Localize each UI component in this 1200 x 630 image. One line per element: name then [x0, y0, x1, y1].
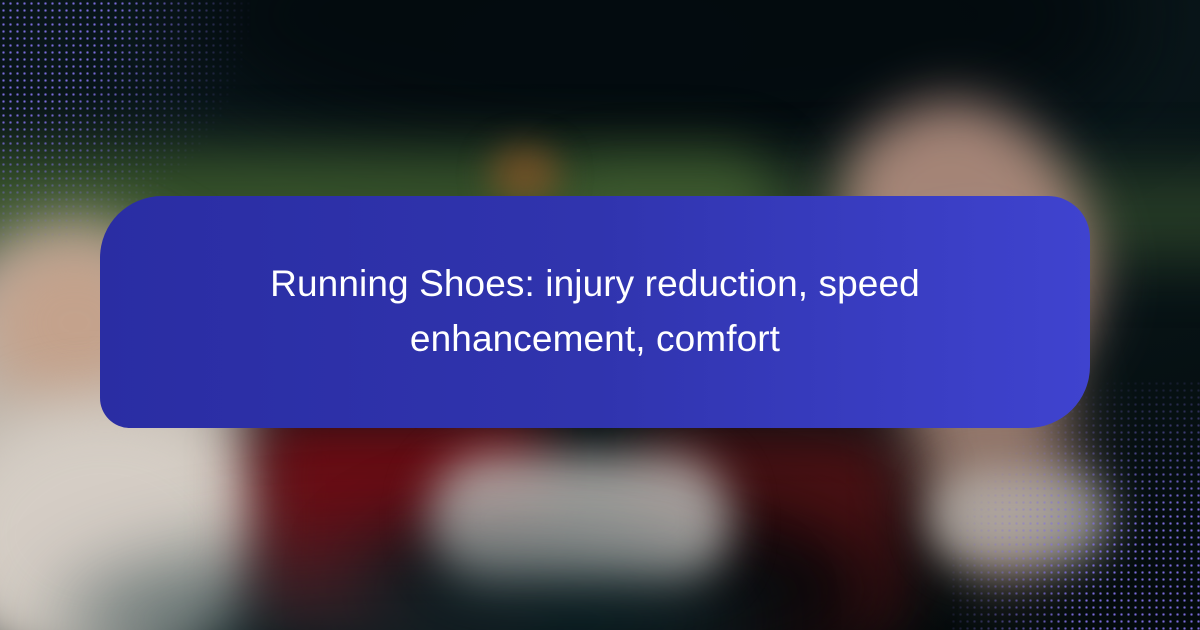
background-blur-controller-right — [930, 470, 1110, 565]
screenshot-canvas: Running Shoes: injury reduction, speed e… — [0, 0, 1200, 630]
headline-title: Running Shoes: injury reduction, speed e… — [245, 257, 945, 367]
headline-card: Running Shoes: injury reduction, speed e… — [100, 196, 1090, 428]
